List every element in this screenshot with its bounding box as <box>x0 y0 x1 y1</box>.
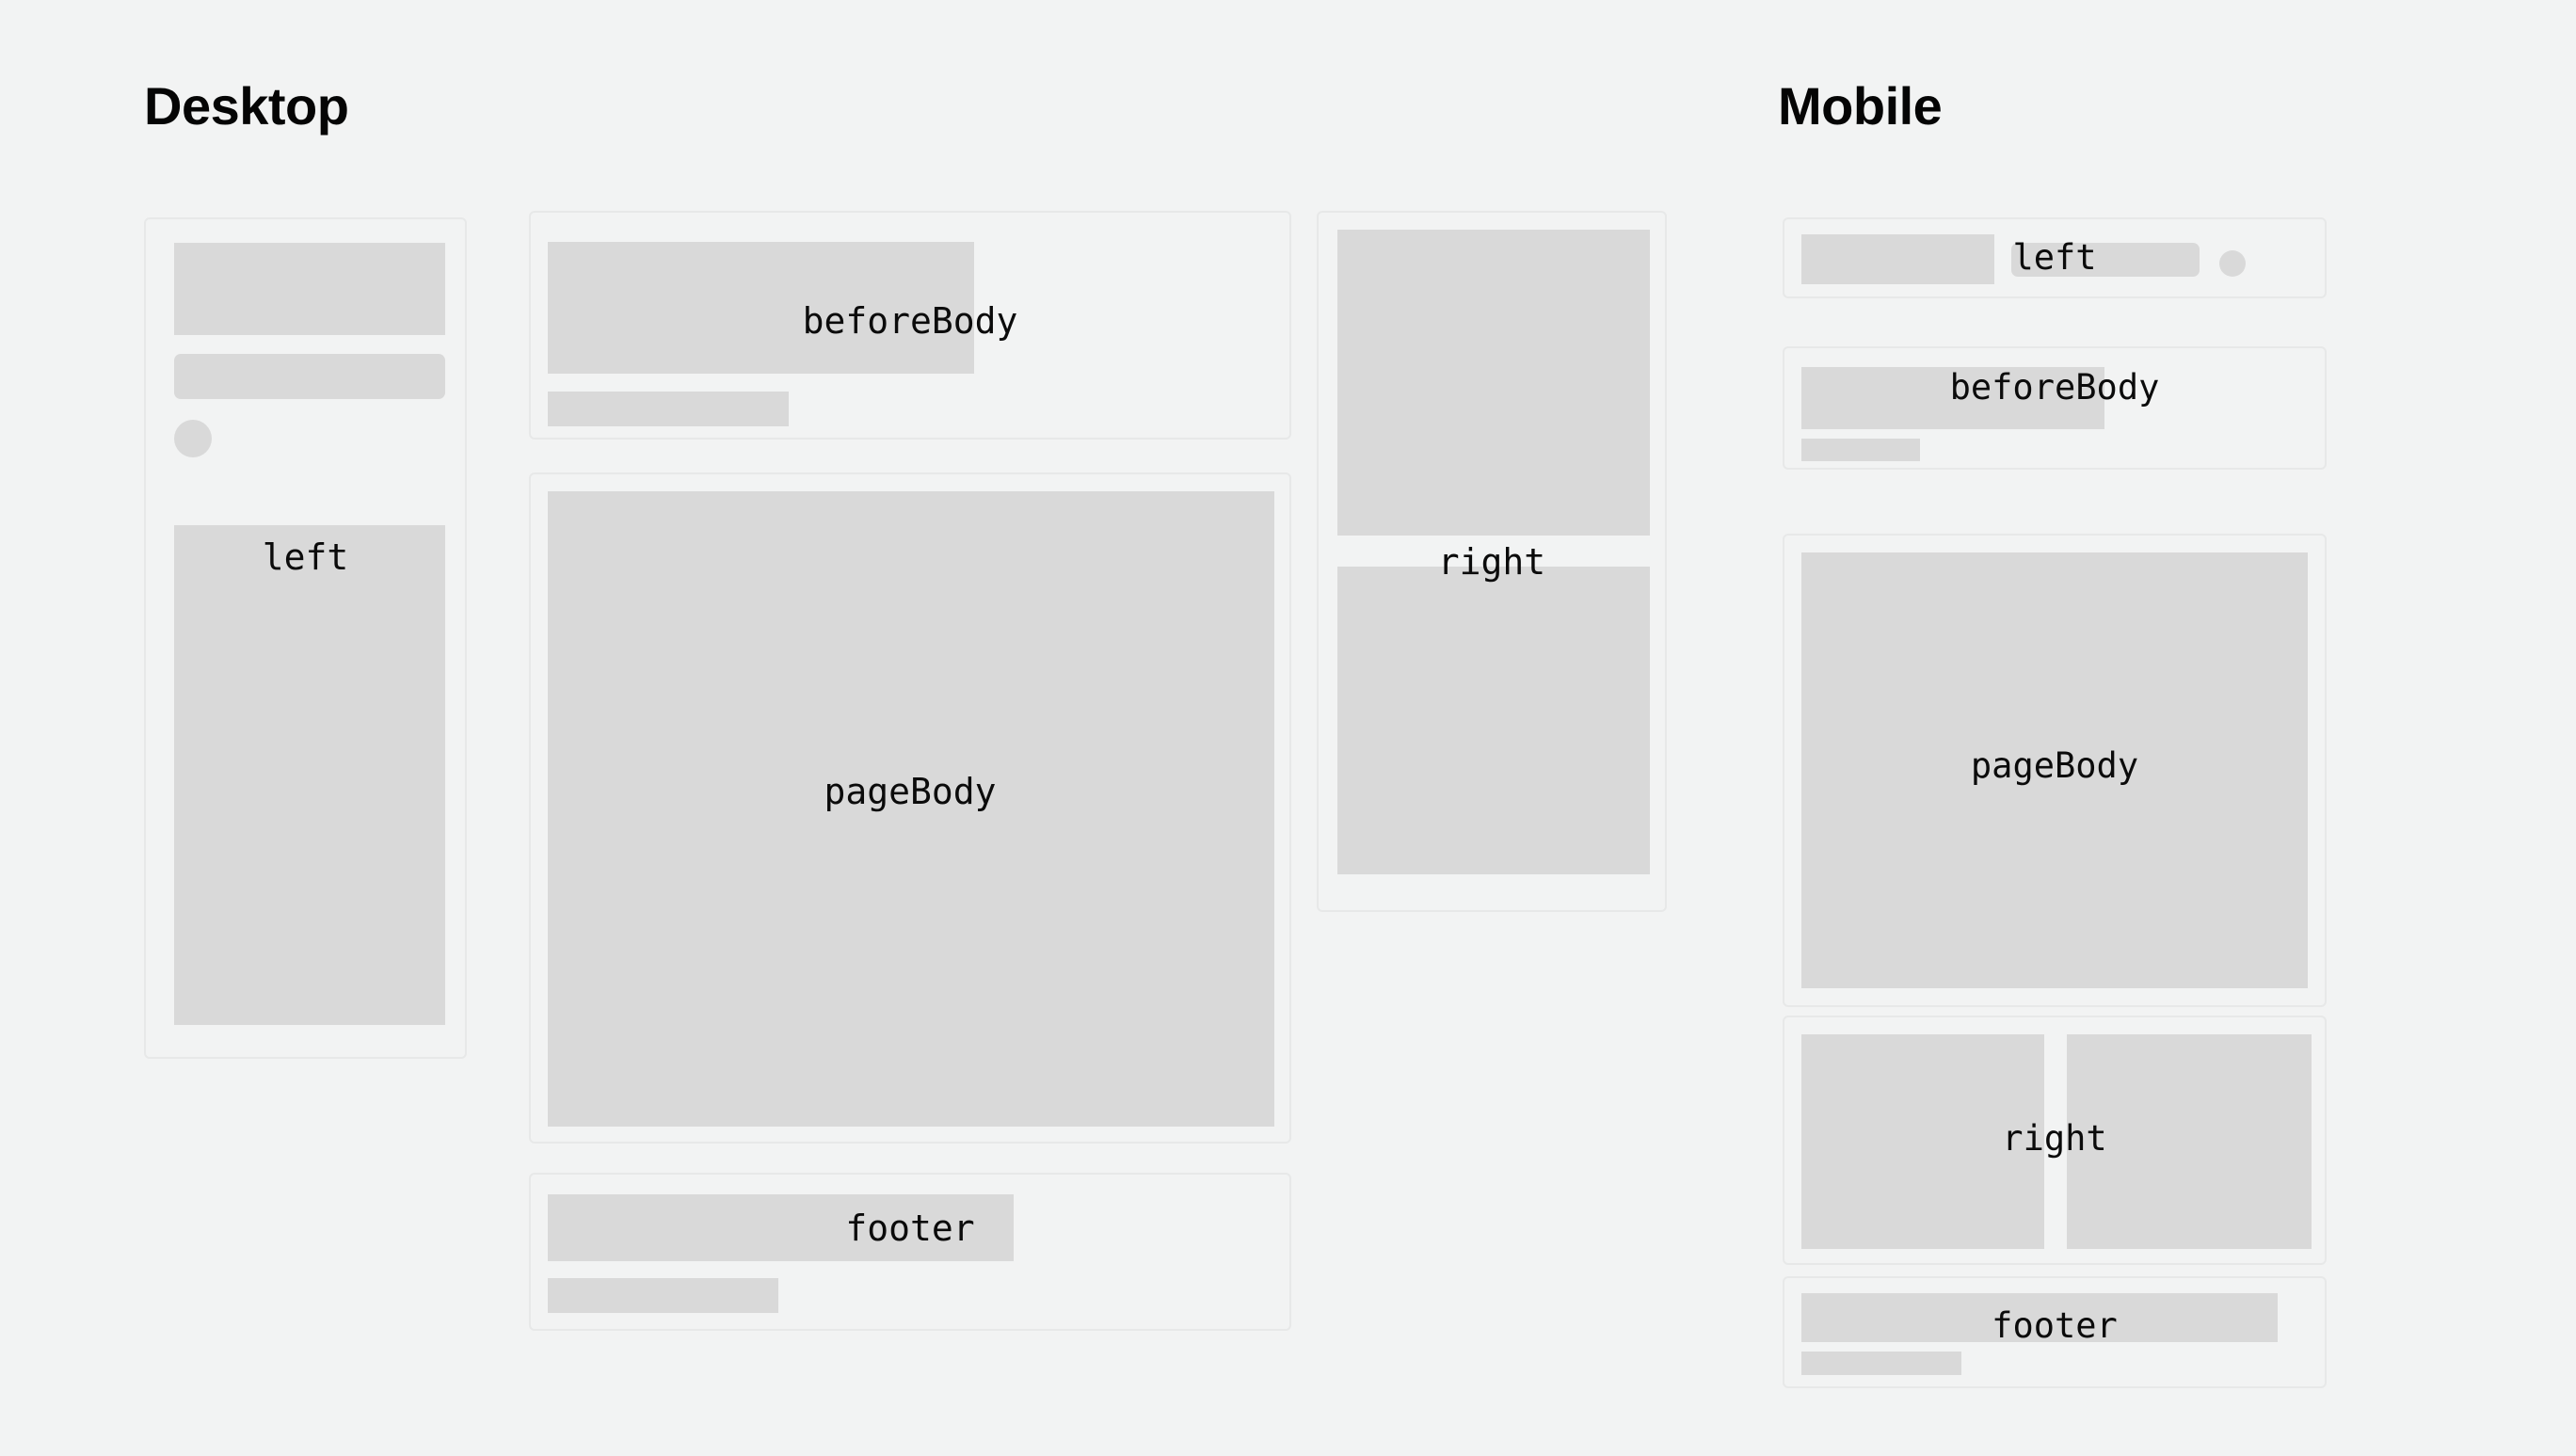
placeholder-block-col-left <box>1801 1034 2044 1249</box>
desktop-slot-pagebody-panel[interactable] <box>529 472 1291 1144</box>
desktop-slot-left-panel[interactable] <box>144 217 467 1059</box>
mobile-slot-left-panel[interactable] <box>1783 217 2327 298</box>
placeholder-block-wide <box>548 1194 1014 1261</box>
desktop-slot-right-panel[interactable] <box>1317 211 1667 912</box>
desktop-slot-footer-panel[interactable] <box>529 1173 1291 1331</box>
placeholder-block-tall <box>174 525 445 1025</box>
placeholder-block-fill <box>548 491 1274 1127</box>
mobile-slot-right-panel[interactable] <box>1783 1016 2327 1265</box>
placeholder-block-wide <box>1801 367 2104 429</box>
page-title-mobile: Mobile <box>1778 80 1942 133</box>
page-title-desktop: Desktop <box>144 80 348 133</box>
placeholder-block-bar <box>174 354 445 399</box>
placeholder-block-bottom <box>1337 567 1650 874</box>
placeholder-block-col-right <box>2067 1034 2312 1249</box>
mobile-slot-beforebody-panel[interactable] <box>1783 346 2327 470</box>
placeholder-block-bar-small <box>548 1278 778 1313</box>
layout-preview-canvas: { "canvas": { "background_color": "#f2f3… <box>0 0 2576 1456</box>
placeholder-block-pill <box>2011 243 2200 277</box>
placeholder-block-wide <box>1801 1293 2278 1342</box>
desktop-slot-beforebody-panel[interactable] <box>529 211 1291 440</box>
placeholder-block-fill <box>1801 552 2308 988</box>
placeholder-block-bar-small <box>1801 439 1920 461</box>
placeholder-block-bar-small <box>548 392 789 426</box>
placeholder-block-top <box>1337 230 1650 536</box>
mobile-slot-pagebody-panel[interactable] <box>1783 534 2327 1007</box>
avatar-circle-icon <box>2219 250 2246 277</box>
avatar-circle-icon <box>174 420 212 457</box>
placeholder-block-wide <box>548 242 974 374</box>
placeholder-block-hero <box>174 243 445 335</box>
mobile-slot-footer-panel[interactable] <box>1783 1276 2327 1388</box>
placeholder-block-rect <box>1801 234 1994 284</box>
placeholder-block-bar-small <box>1801 1352 1961 1375</box>
